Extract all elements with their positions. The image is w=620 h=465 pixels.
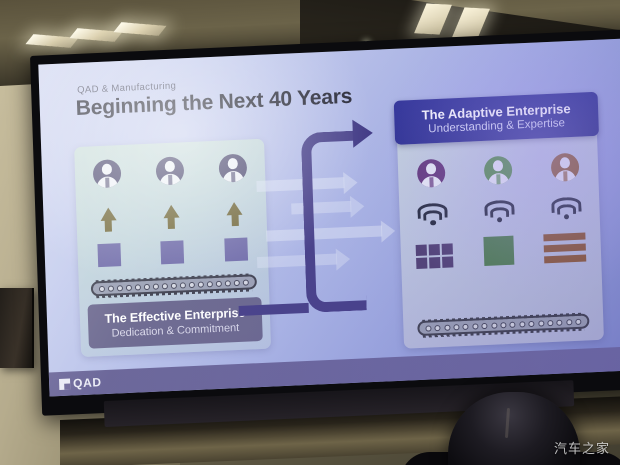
left-arrows-row (76, 201, 267, 233)
display-screen: QAD & Manufacturing Beginning the Next 4… (30, 29, 620, 416)
room-photo-scene: QAD & Manufacturing Beginning the Next 4… (0, 0, 620, 465)
qad-logo-icon (59, 378, 70, 389)
left-panel-label: The Effective Enterprise Dedication & Co… (87, 297, 262, 349)
stacked-bars-icon (543, 232, 586, 263)
person-icon (219, 153, 248, 182)
right-blocks-row (400, 232, 601, 270)
right-signals-row (399, 196, 600, 227)
elbow-arrow-head (352, 119, 373, 148)
left-people-row (75, 153, 266, 189)
wifi-icon (484, 200, 515, 223)
wifi-icon (551, 197, 582, 220)
hair-part (505, 408, 510, 438)
conveyor-belt-icon (417, 313, 589, 336)
arrow-up-icon (163, 205, 180, 230)
right-people-row (398, 152, 599, 189)
person-icon (484, 156, 513, 185)
elbow-arrow-icon (301, 130, 367, 313)
left-panel: The Effective Enterprise Dedication & Co… (74, 139, 271, 357)
solid-square-icon (483, 236, 514, 266)
square-block (98, 243, 122, 267)
slide-canvas: QAD & Manufacturing Beginning the Next 4… (38, 39, 620, 397)
person-icon (156, 156, 185, 185)
square-block (224, 238, 248, 262)
arrow-up-icon (226, 202, 243, 227)
right-panel: The Adaptive Enterprise Understanding & … (396, 100, 604, 349)
person-icon (417, 159, 446, 188)
person-icon (550, 153, 579, 182)
wifi-icon (418, 203, 449, 226)
grid-blocks-icon (416, 243, 455, 269)
elbow-arrow-tail (239, 303, 309, 316)
arrow-up-icon (100, 207, 117, 232)
right-panel-header: The Adaptive Enterprise Understanding & … (394, 92, 599, 145)
square-block (161, 240, 185, 264)
left-squares-row (77, 237, 268, 268)
watermark: 汽车之家 (554, 438, 610, 457)
person-icon (92, 159, 121, 188)
conveyor-belt-icon (91, 274, 257, 296)
qad-logo-text: QAD (73, 375, 102, 390)
wall-speaker (0, 288, 34, 368)
